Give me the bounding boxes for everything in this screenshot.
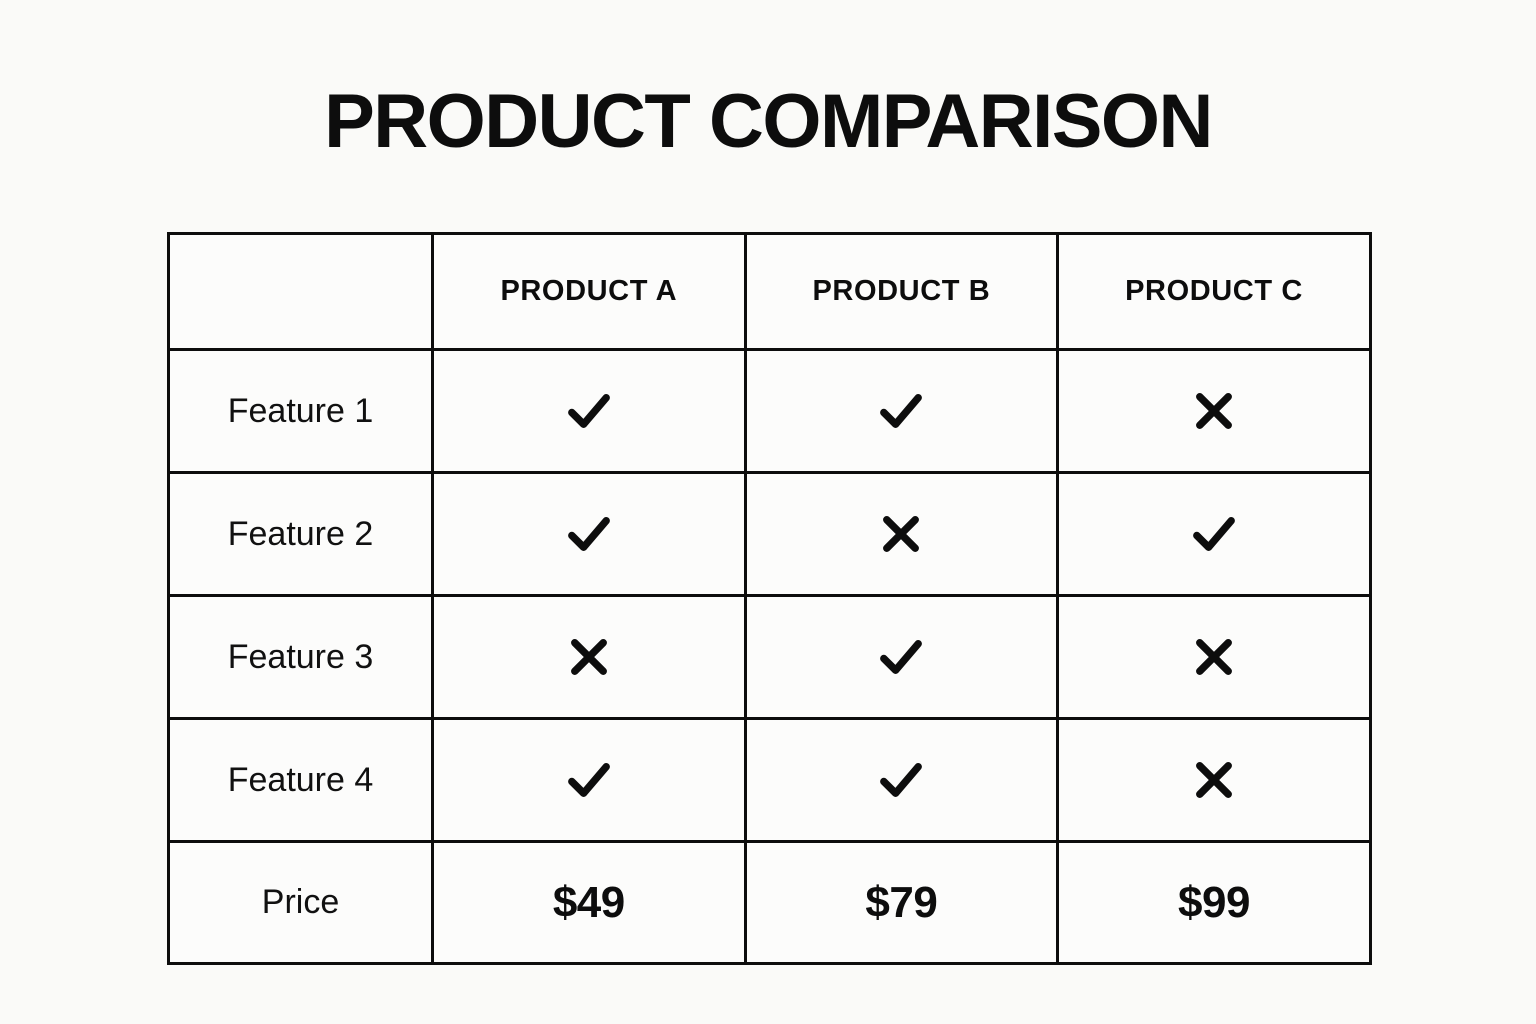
cell-feature-2-product-b bbox=[745, 473, 1058, 596]
cell-feature-3-product-c bbox=[1058, 596, 1371, 719]
check-icon bbox=[872, 628, 930, 686]
row-label-price: Price bbox=[169, 842, 433, 964]
table-row: Price $49 $79 $99 bbox=[169, 842, 1371, 964]
cell-feature-4-product-c bbox=[1058, 719, 1371, 842]
page-title: PRODUCT COMPARISON bbox=[0, 78, 1536, 166]
cross-icon bbox=[872, 505, 930, 563]
cell-feature-1-product-b bbox=[745, 350, 1058, 473]
corner-cell bbox=[169, 234, 433, 350]
cell-feature-3-product-a bbox=[433, 596, 746, 719]
comparison-table-wrapper: PRODUCT A PRODUCT B PRODUCT C Feature 1 … bbox=[167, 232, 1369, 941]
cell-feature-3-product-b bbox=[745, 596, 1058, 719]
column-header-product-c: PRODUCT C bbox=[1058, 234, 1371, 350]
cross-icon bbox=[1185, 382, 1243, 440]
row-label-feature-4: Feature 4 bbox=[169, 719, 433, 842]
row-label-feature-2: Feature 2 bbox=[169, 473, 433, 596]
cell-feature-4-product-a bbox=[433, 719, 746, 842]
cell-price-product-b: $79 bbox=[745, 842, 1058, 964]
table-header: PRODUCT A PRODUCT B PRODUCT C bbox=[169, 234, 1371, 350]
cell-feature-2-product-a bbox=[433, 473, 746, 596]
cross-icon bbox=[1185, 628, 1243, 686]
column-header-product-b: PRODUCT B bbox=[745, 234, 1058, 350]
product-comparison-table: PRODUCT A PRODUCT B PRODUCT C Feature 1 … bbox=[167, 232, 1372, 965]
cell-feature-1-product-c bbox=[1058, 350, 1371, 473]
check-icon bbox=[560, 505, 618, 563]
check-icon bbox=[560, 751, 618, 809]
check-icon bbox=[872, 751, 930, 809]
check-icon bbox=[560, 382, 618, 440]
cell-feature-4-product-b bbox=[745, 719, 1058, 842]
check-icon bbox=[872, 382, 930, 440]
cross-icon bbox=[1185, 751, 1243, 809]
cell-feature-1-product-a bbox=[433, 350, 746, 473]
cell-feature-2-product-c bbox=[1058, 473, 1371, 596]
table-row: Feature 2 bbox=[169, 473, 1371, 596]
cell-price-product-c: $99 bbox=[1058, 842, 1371, 964]
column-header-product-a: PRODUCT A bbox=[433, 234, 746, 350]
table-body: Feature 1 Feature 2 Feature 3 bbox=[169, 350, 1371, 964]
cell-price-product-a: $49 bbox=[433, 842, 746, 964]
row-label-feature-1: Feature 1 bbox=[169, 350, 433, 473]
table-row: Feature 1 bbox=[169, 350, 1371, 473]
check-icon bbox=[1185, 505, 1243, 563]
cross-icon bbox=[560, 628, 618, 686]
table-row: Feature 4 bbox=[169, 719, 1371, 842]
comparison-page: PRODUCT COMPARISON PRODUCT A PRODUCT B P… bbox=[0, 0, 1536, 1024]
table-row: Feature 3 bbox=[169, 596, 1371, 719]
header-row: PRODUCT A PRODUCT B PRODUCT C bbox=[169, 234, 1371, 350]
row-label-feature-3: Feature 3 bbox=[169, 596, 433, 719]
